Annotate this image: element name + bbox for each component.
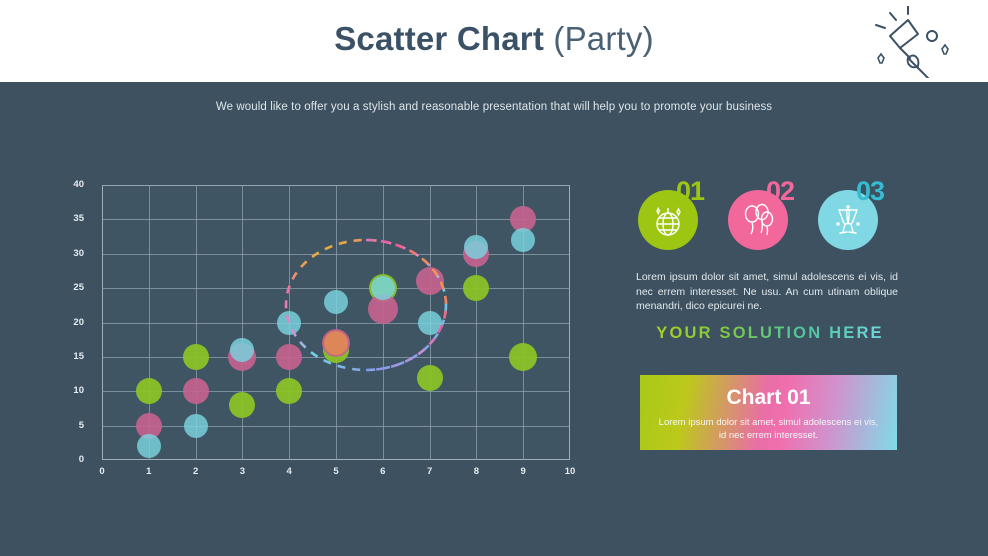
feature-number-02: 02 <box>766 176 794 207</box>
y-axis-tick-label: 10 <box>44 385 84 396</box>
scatter-point-cyan <box>277 311 301 335</box>
chart-card-text: Lorem ipsum dolor sit amet, simul adoles… <box>654 416 883 442</box>
chart-card-title: Chart 01 <box>640 386 897 410</box>
party-popper-icon <box>856 6 966 78</box>
scatter-point-pink <box>183 378 209 404</box>
scatter-point-cyan <box>418 311 442 335</box>
scatter-point-green <box>417 365 443 391</box>
feature-item-01[interactable]: 01 <box>638 190 698 250</box>
y-axis-tick-label: 0 <box>44 454 84 465</box>
scatter-point-green <box>509 343 537 371</box>
page-title-light: (Party) <box>553 20 653 57</box>
scatter-point-cyan <box>371 276 395 300</box>
scatter-chart: 0510152025303540 012345678910 <box>70 170 590 480</box>
x-axis-tick-label: 3 <box>227 466 257 477</box>
scatter-point-cyan <box>511 228 535 252</box>
x-axis-tick-label: 9 <box>508 466 538 477</box>
scatter-point-green <box>183 344 209 370</box>
x-axis-tick-label: 4 <box>274 466 304 477</box>
chart-card[interactable]: Chart 01 Lorem ipsum dolor sit amet, sim… <box>640 375 897 450</box>
scatter-point-cyan <box>184 414 208 438</box>
y-axis-tick-label: 5 <box>44 420 84 431</box>
solution-headline: YOUR SOLUTION HERE <box>642 324 898 343</box>
x-axis-tick-label: 8 <box>461 466 491 477</box>
page-title-bold: Scatter Chart <box>334 20 544 57</box>
y-axis-tick-label: 40 <box>44 179 84 190</box>
gridline-vertical <box>336 185 337 460</box>
right-panel: 01 02 <box>636 178 898 468</box>
feature-item-02[interactable]: 02 <box>728 190 788 250</box>
y-axis-tick-label: 25 <box>44 282 84 293</box>
scatter-point-cyan <box>137 434 161 458</box>
panel-body-text: Lorem ipsum dolor sit amet, simul adoles… <box>636 270 898 314</box>
x-axis-tick-label: 7 <box>415 466 445 477</box>
y-axis-tick-label: 35 <box>44 213 84 224</box>
x-axis-tick-label: 10 <box>555 466 585 477</box>
feature-number-01: 01 <box>676 176 704 207</box>
scatter-point-orange <box>324 331 348 355</box>
y-axis-tick-label: 30 <box>44 248 84 259</box>
subtitle-text: We would like to offer you a stylish and… <box>0 101 988 113</box>
gridline-vertical <box>476 185 477 460</box>
feature-icon-row: 01 02 <box>636 178 898 250</box>
scatter-point-cyan <box>324 290 348 314</box>
gridline-vertical <box>242 185 243 460</box>
x-axis-tick-label: 5 <box>321 466 351 477</box>
feature-number-03: 03 <box>856 176 884 207</box>
page-header: Scatter Chart (Party) <box>0 0 988 82</box>
y-axis-tick-label: 20 <box>44 317 84 328</box>
feature-item-03[interactable]: 03 <box>818 190 878 250</box>
x-axis-tick-label: 0 <box>87 466 117 477</box>
scatter-point-pink <box>276 344 302 370</box>
page-title: Scatter Chart (Party) <box>0 20 988 58</box>
y-axis-tick-label: 15 <box>44 351 84 362</box>
x-axis-tick-label: 2 <box>181 466 211 477</box>
x-axis-tick-label: 1 <box>134 466 164 477</box>
scatter-point-pink <box>416 267 444 295</box>
scatter-point-green <box>136 378 162 404</box>
x-axis-tick-label: 6 <box>368 466 398 477</box>
